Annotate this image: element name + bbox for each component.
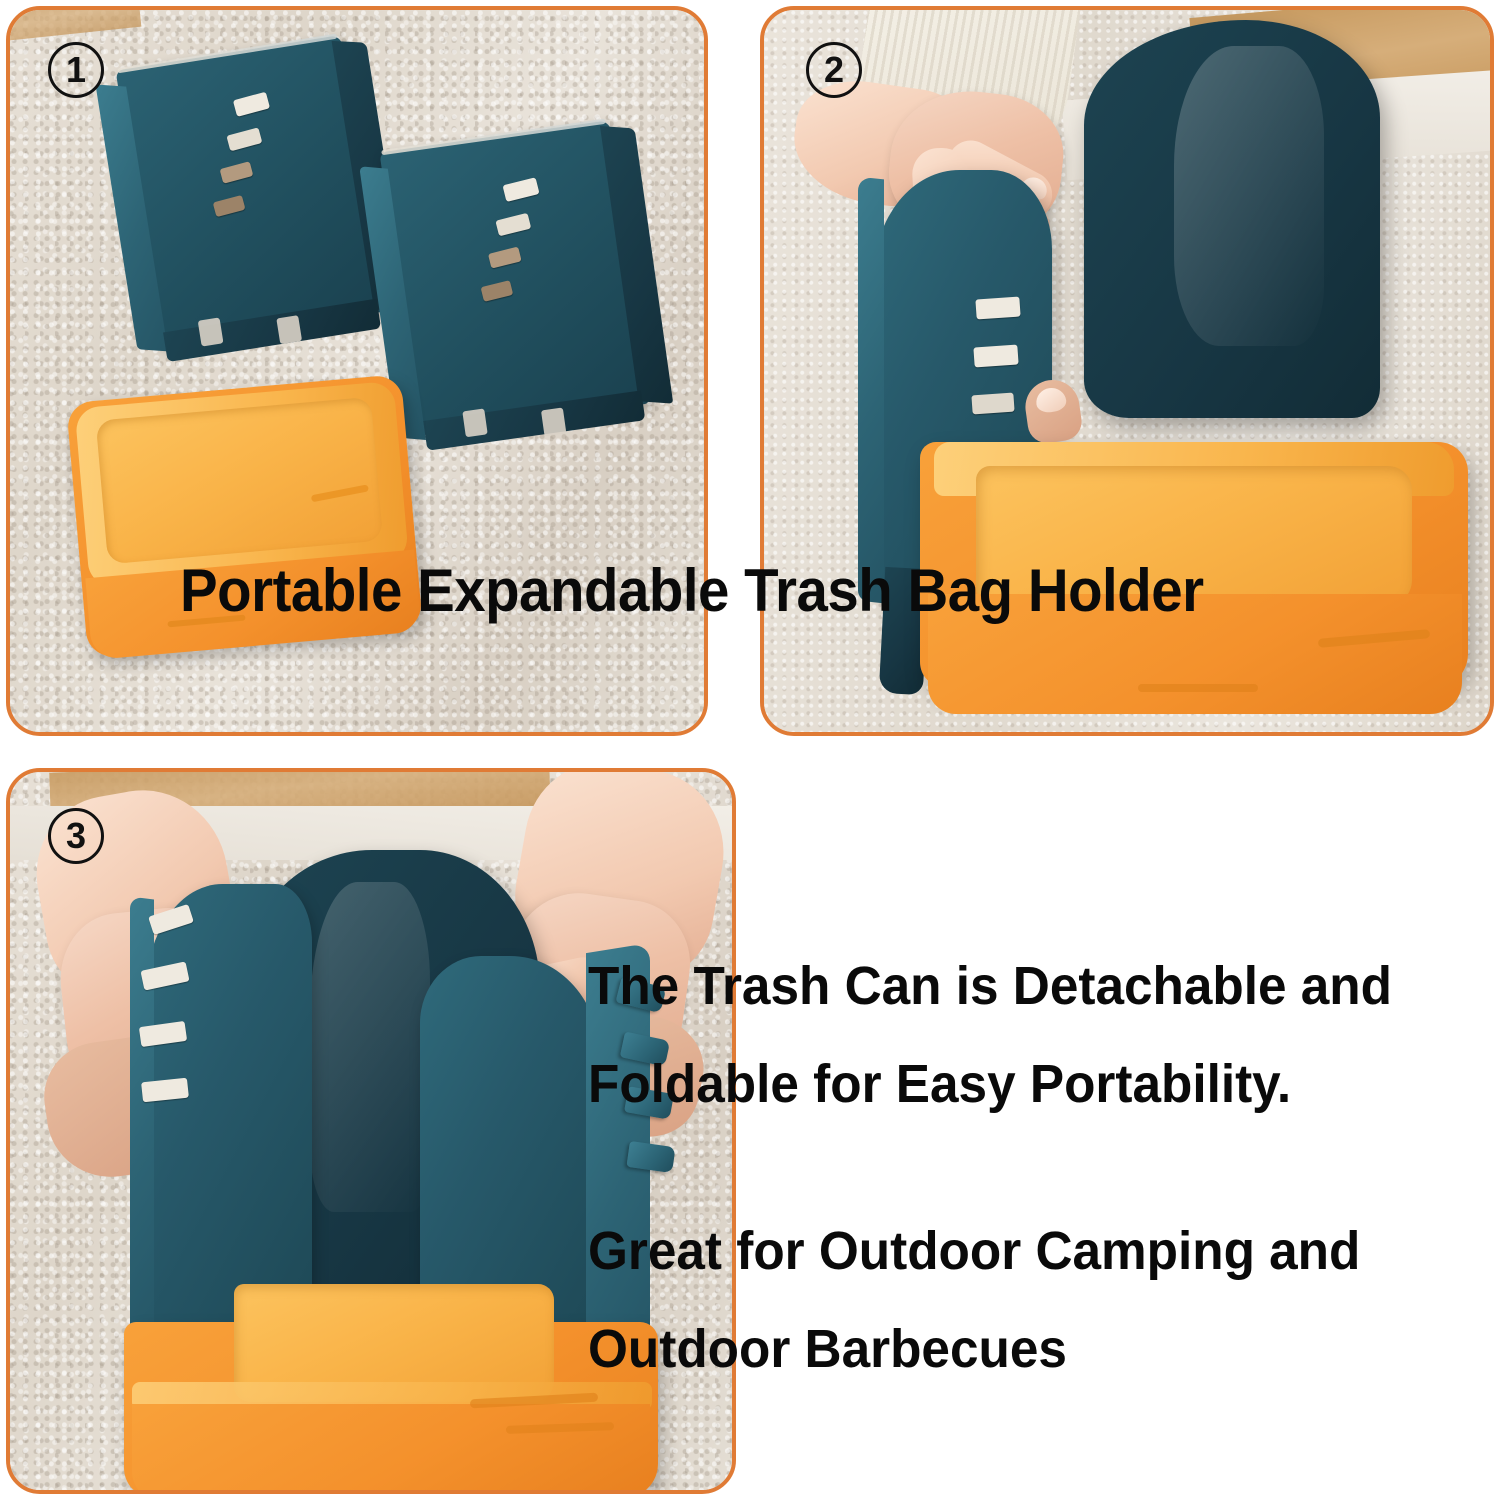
panel-step-1: 1 — [6, 6, 708, 736]
step-badge-2: 2 — [806, 42, 862, 98]
feature-line-2: Foldable for Easy Portability. — [588, 1053, 1291, 1115]
step-number-2: 2 — [824, 52, 844, 88]
step-badge-1: 1 — [48, 42, 104, 98]
feature-line-3: Great for Outdoor Camping and — [588, 1220, 1360, 1282]
orange-base-tray — [55, 363, 441, 703]
feature-line-1: The Trash Can is Detachable and — [588, 955, 1392, 1017]
step-number-1: 1 — [66, 52, 86, 88]
panel-step-3: 3 — [6, 768, 736, 1494]
step-number-3: 3 — [66, 818, 86, 854]
feature-line-4: Outdoor Barbecues — [588, 1318, 1067, 1380]
panel-step-2: 2 — [760, 6, 1494, 736]
product-infographic: 1 — [0, 0, 1500, 1500]
step-badge-3: 3 — [48, 808, 104, 864]
product-title-overlay: Portable Expandable Trash Bag Holder — [180, 556, 1204, 625]
